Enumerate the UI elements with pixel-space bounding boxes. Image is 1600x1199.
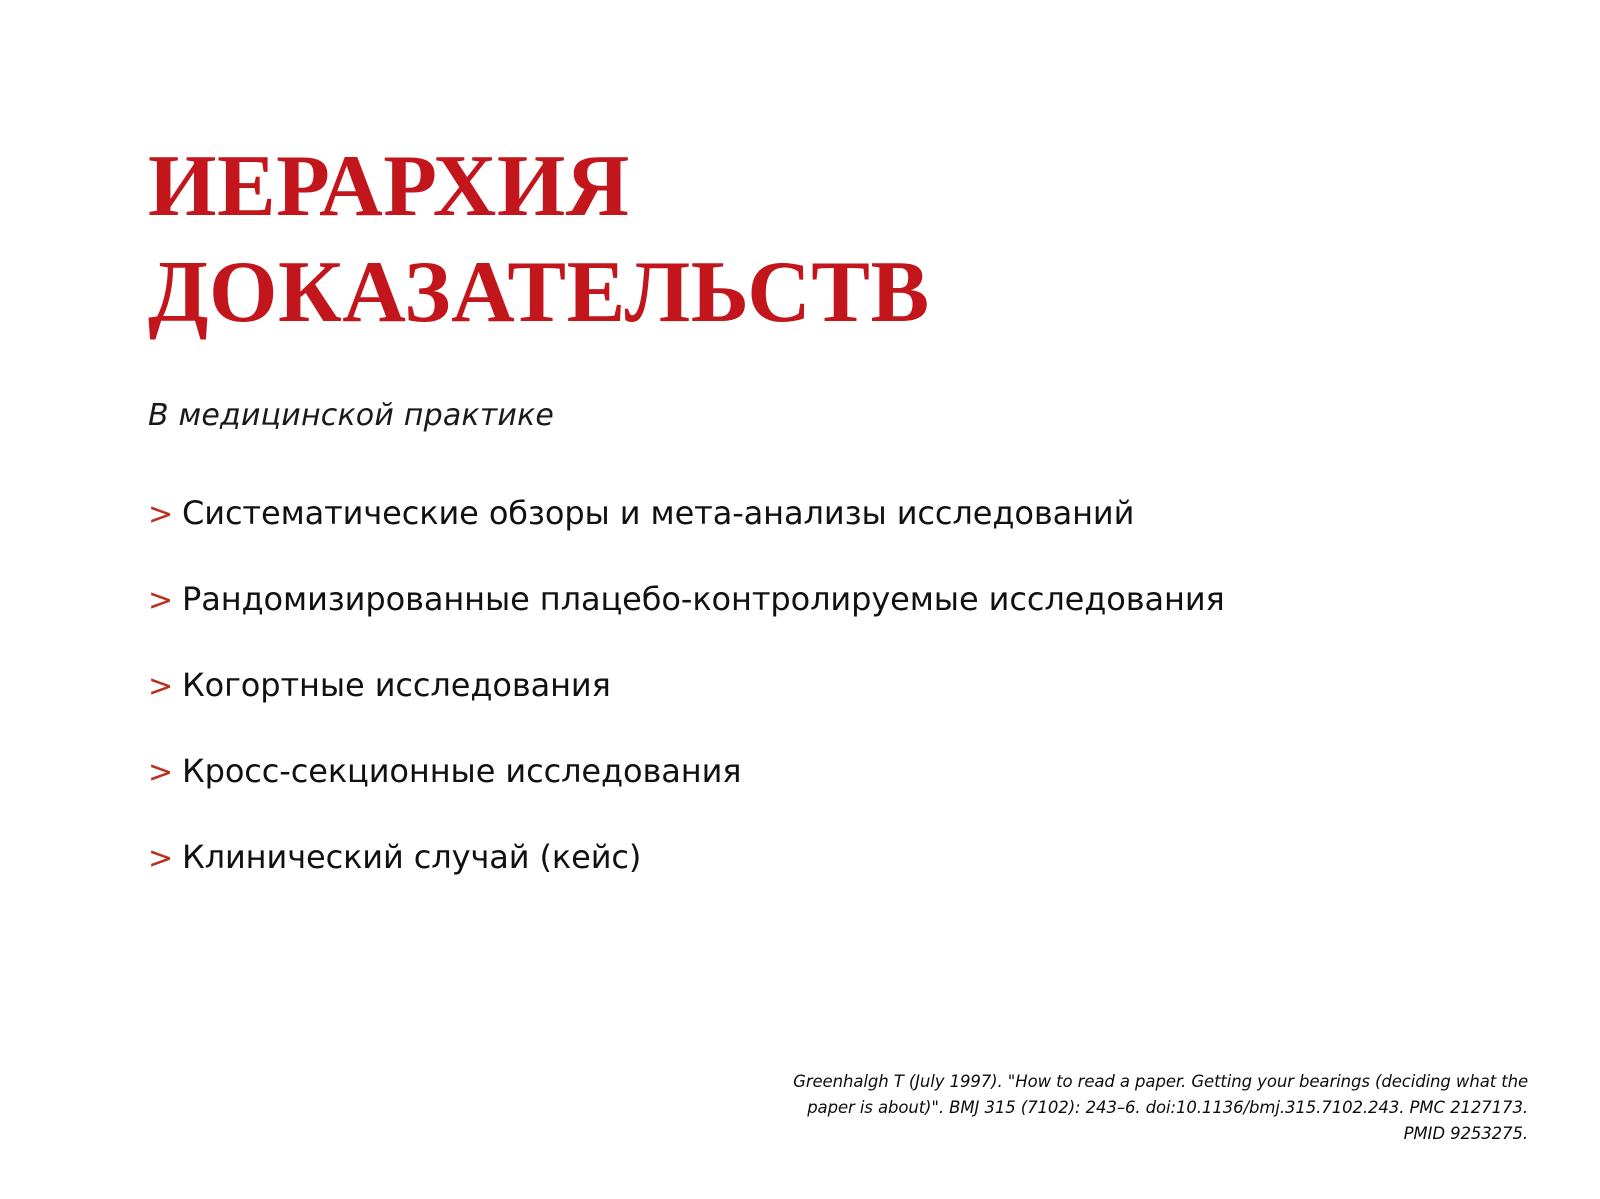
list-item-label: Когортные исследования bbox=[182, 668, 1488, 703]
list-item: > Систематические обзоры и мета-анализы … bbox=[148, 496, 1488, 582]
page-title-line-1: ИЕРАРХИЯ bbox=[148, 134, 1348, 240]
list-item: > Кросс-секционные исследования bbox=[148, 754, 1488, 840]
list-item: > Клинический случай (кейс) bbox=[148, 840, 1488, 926]
slide-canvas: ИЕРАРХИЯ ДОКАЗАТЕЛЬСТВ В медицинской пра… bbox=[0, 0, 1600, 1199]
list-item-label: Клинический случай (кейс) bbox=[182, 840, 1488, 875]
chevron-right-icon: > bbox=[148, 758, 182, 788]
list-item-label: Рандомизированные плацебо-контролируемые… bbox=[182, 582, 1488, 617]
evidence-hierarchy-list: > Систематические обзоры и мета-анализы … bbox=[148, 496, 1488, 926]
chevron-right-icon: > bbox=[148, 672, 182, 702]
chevron-right-icon: > bbox=[148, 500, 182, 530]
page-title-line-2: ДОКАЗАТЕЛЬСТВ bbox=[148, 240, 1348, 346]
list-item-label: Кросс-секционные исследования bbox=[182, 754, 1488, 789]
page-subtitle: В медицинской практике bbox=[148, 396, 554, 436]
chevron-right-icon: > bbox=[148, 844, 182, 874]
list-item: > Когортные исследования bbox=[148, 668, 1488, 754]
source-citation: Greenhalgh T (July 1997). "How to read a… bbox=[768, 1069, 1528, 1147]
list-item: > Рандомизированные плацебо-контролируем… bbox=[148, 582, 1488, 668]
chevron-right-icon: > bbox=[148, 586, 182, 616]
page-title: ИЕРАРХИЯ ДОКАЗАТЕЛЬСТВ bbox=[148, 134, 1348, 346]
list-item-label: Систематические обзоры и мета-анализы ис… bbox=[182, 496, 1488, 531]
